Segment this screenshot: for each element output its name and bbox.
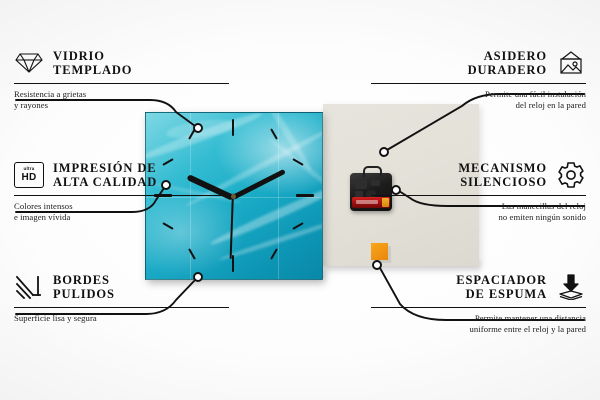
feature-desc-line2: e imagen vívida: [14, 212, 229, 223]
infographic-canvas: VIDRIO TEMPLADO Resistencia a grietas y …: [0, 0, 600, 400]
feature-mecanismo-silencioso: MECANISMO SILENCIOSO Las manecillas del …: [371, 160, 586, 223]
feature-desc-line2: uniforme entre el reloj y la pared: [371, 324, 586, 335]
feature-title-line1: VIDRIO: [53, 49, 132, 64]
ultra-hd-icon: ultra HD: [14, 160, 44, 190]
feature-title-line1: IMPRESIÓN DE: [53, 161, 157, 176]
gear-icon: [556, 160, 586, 190]
feature-title-line2: ALTA CALIDAD: [53, 175, 157, 190]
feature-desc-line2: no emiten ningún sonido: [371, 212, 586, 223]
callout-dot-espaciador: [373, 261, 381, 269]
feature-desc-line2: y rayones: [14, 100, 229, 111]
feature-title-line1: BORDES: [53, 273, 115, 288]
ultra-hd-icon-bottom-text: HD: [21, 173, 36, 183]
feature-title-line2: DURADERO: [468, 63, 547, 78]
callout-dot-asidero: [380, 148, 388, 156]
feature-title-line2: PULIDOS: [53, 287, 115, 302]
feature-title-line2: SILENCIOSO: [458, 175, 547, 190]
feature-divider: [14, 195, 229, 196]
arrow-down-layers-icon: [556, 272, 586, 302]
feature-title-line1: ESPACIADOR: [456, 273, 547, 288]
diamond-icon: [14, 48, 44, 78]
feature-desc-line1: Superficie lisa y segura: [14, 313, 229, 324]
feature-desc-line1: Las manecillas del reloj: [371, 201, 586, 212]
feature-desc-line2: del reloj en la pared: [371, 100, 586, 111]
feature-divider: [371, 83, 586, 84]
diagonal-lines-icon: [14, 272, 44, 302]
callout-dot-vidrio: [194, 124, 202, 132]
feature-title-line1: ASIDERO: [468, 49, 547, 64]
feature-title-line2: DE ESPUMA: [456, 287, 547, 302]
feature-desc-line1: Colores intensos: [14, 201, 229, 212]
feature-vidrio-templado: VIDRIO TEMPLADO Resistencia a grietas y …: [14, 48, 229, 111]
feature-impresion-alta-calidad: ultra HD IMPRESIÓN DE ALTA CALIDAD Color…: [14, 160, 229, 223]
feature-bordes-pulidos: BORDES PULIDOS Superficie lisa y segura: [14, 272, 229, 324]
feature-divider: [371, 307, 586, 308]
feature-divider: [14, 83, 229, 84]
feature-title-line1: MECANISMO: [458, 161, 547, 176]
feature-desc-line1: Resistencia a grietas: [14, 89, 229, 100]
feature-title-line2: TEMPLADO: [53, 63, 132, 78]
feature-desc-line1: Permite una fácil instalación: [371, 89, 586, 100]
feature-espaciador-de-espuma: ESPACIADOR DE ESPUMA Permite mantener un…: [371, 272, 586, 335]
feature-divider: [371, 195, 586, 196]
feature-asidero-duradero: ASIDERO DURADERO Permite una fácil insta…: [371, 48, 586, 111]
feature-divider: [14, 307, 229, 308]
picture-frame-icon: [556, 48, 586, 78]
feature-desc-line1: Permite mantener una distancia: [371, 313, 586, 324]
